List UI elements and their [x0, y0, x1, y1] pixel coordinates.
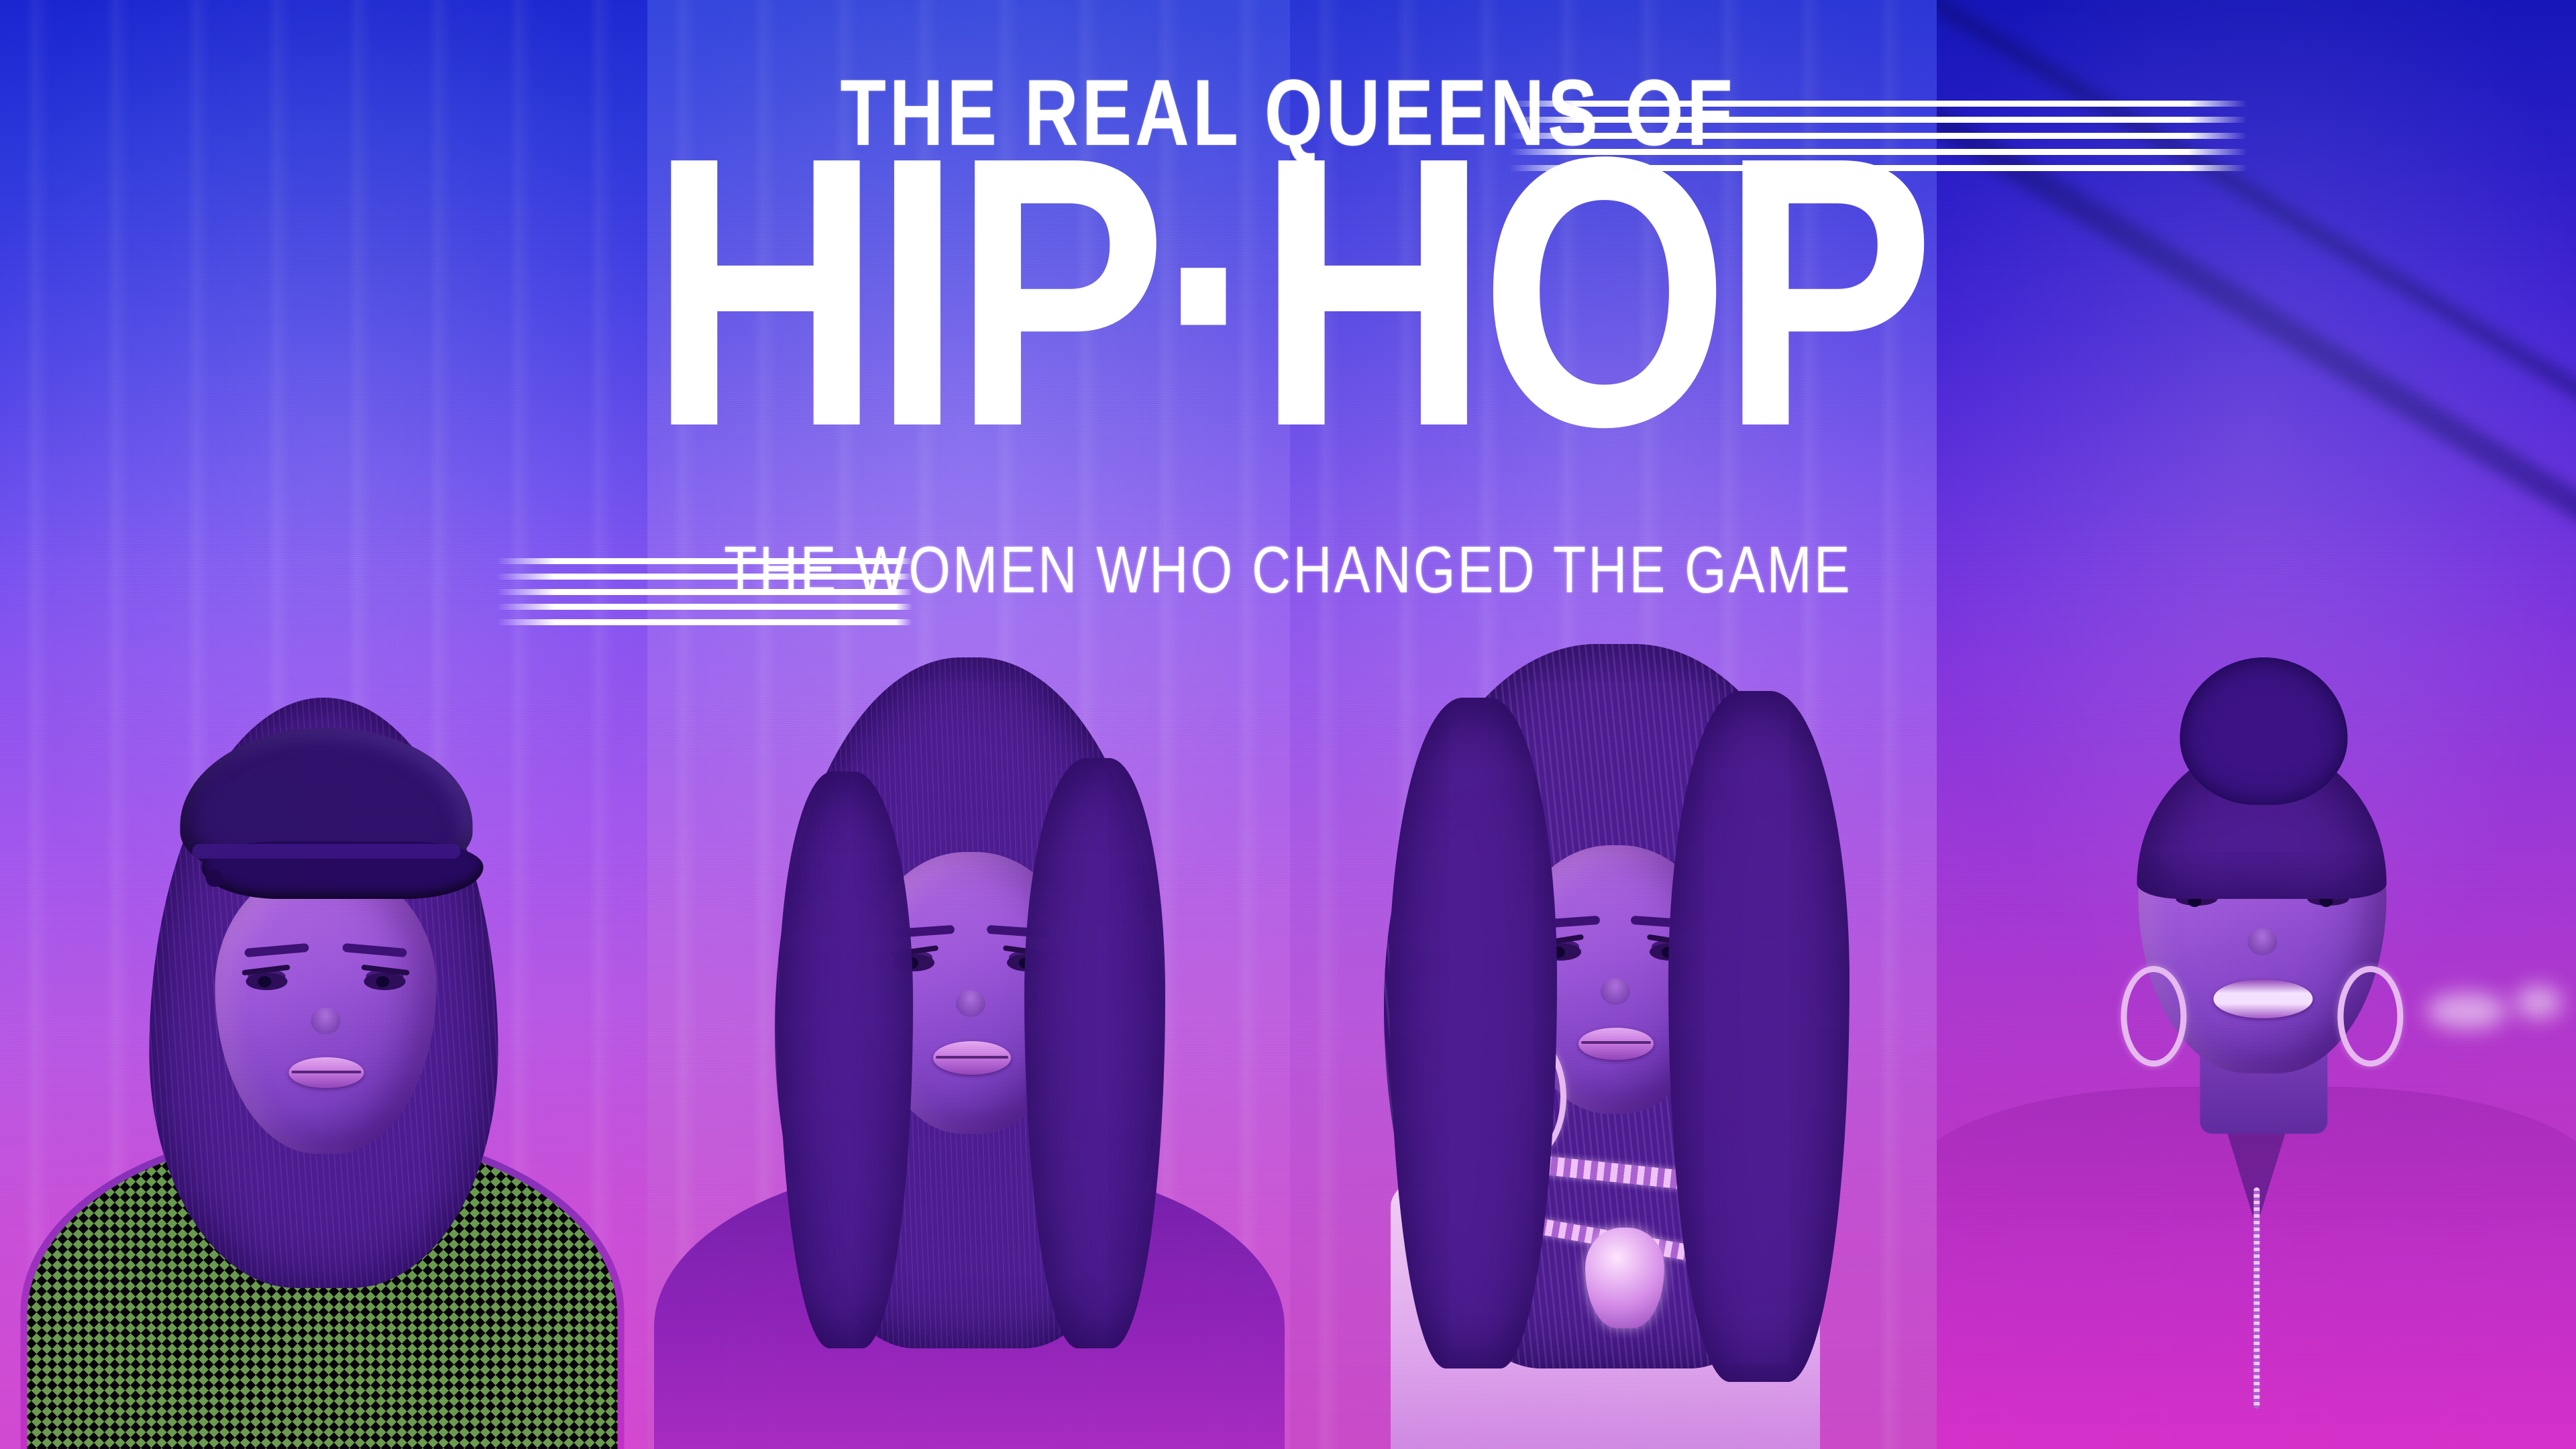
portrait-panel-1[interactable] — [0, 0, 647, 1449]
portrait-panel-4[interactable] — [1937, 0, 2576, 1449]
poster-canvas: H66 — [0, 0, 2576, 1449]
panel-4-grain — [1937, 0, 2576, 1449]
portrait-panel-3[interactable]: H66 — [1290, 0, 1937, 1449]
panel-3-grain — [1290, 0, 1937, 1449]
panel-1-grain — [0, 0, 647, 1449]
panel-2-grain — [647, 0, 1290, 1449]
portrait-panel-2[interactable] — [647, 0, 1290, 1449]
